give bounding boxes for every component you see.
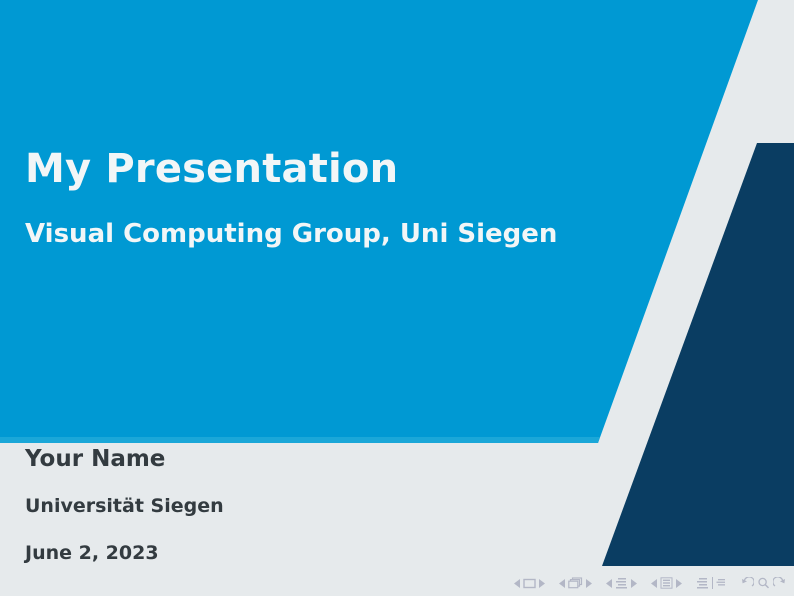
next-section-icon[interactable] bbox=[675, 579, 682, 588]
subsection-icon[interactable] bbox=[615, 577, 628, 589]
next-slide-icon[interactable] bbox=[538, 579, 545, 588]
prev-slide-icon[interactable] bbox=[514, 579, 521, 588]
prev-section-icon[interactable] bbox=[651, 579, 658, 588]
beamer-navigation-bar[interactable] bbox=[514, 574, 786, 592]
prev-subsection-icon[interactable] bbox=[606, 579, 613, 588]
nav-divider-icon bbox=[711, 577, 714, 589]
frame-icon[interactable] bbox=[568, 577, 583, 589]
slide-navigation-group[interactable] bbox=[514, 578, 545, 589]
title-block: My Presentation Visual Computing Group, … bbox=[25, 148, 645, 249]
author-name: Your Name bbox=[25, 448, 545, 471]
subsection-navigation-group[interactable] bbox=[606, 577, 637, 589]
blue-accent-strip bbox=[0, 437, 600, 443]
institute-name: Universität Siegen bbox=[25, 471, 545, 516]
presentation-date: June 2, 2023 bbox=[25, 516, 545, 563]
presentation-icon[interactable] bbox=[696, 577, 709, 589]
page-title: My Presentation bbox=[25, 148, 645, 190]
action-navigation-group[interactable] bbox=[741, 577, 786, 589]
back-icon[interactable] bbox=[741, 577, 754, 589]
frame-navigation-group[interactable] bbox=[559, 577, 592, 589]
prev-frame-icon[interactable] bbox=[559, 579, 566, 588]
forward-icon[interactable] bbox=[773, 577, 786, 589]
slide-icon[interactable] bbox=[523, 578, 536, 589]
section-icon[interactable] bbox=[660, 577, 673, 589]
document-navigation-group[interactable] bbox=[696, 577, 727, 589]
author-meta-block: Your Name Universität Siegen June 2, 202… bbox=[25, 448, 545, 563]
next-subsection-icon[interactable] bbox=[630, 579, 637, 588]
appendix-icon[interactable] bbox=[716, 577, 727, 589]
page-subtitle: Visual Computing Group, Uni Siegen bbox=[25, 190, 645, 249]
presentation-slide: My Presentation Visual Computing Group, … bbox=[0, 0, 794, 596]
section-navigation-group[interactable] bbox=[651, 577, 682, 589]
find-icon[interactable] bbox=[757, 577, 770, 589]
next-frame-icon[interactable] bbox=[585, 579, 592, 588]
